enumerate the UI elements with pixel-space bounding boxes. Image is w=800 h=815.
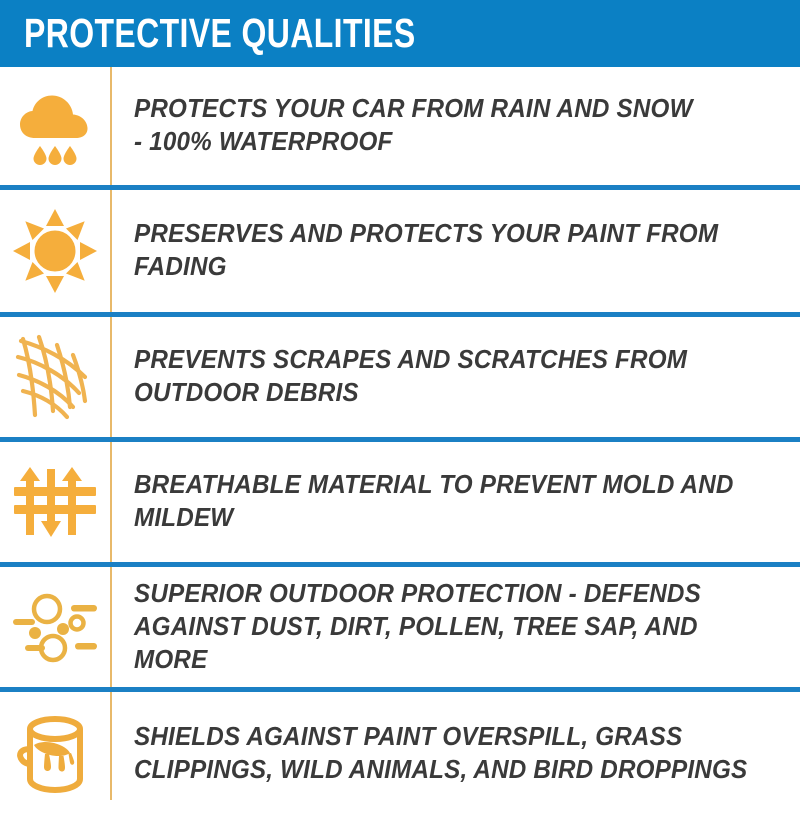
text-cell: PROTECTS YOUR CAR FROM RAIN AND SNOW - 1… <box>110 93 800 159</box>
feature-text-line1: PRESERVES AND PROTECTS YOUR PAINT FROM <box>134 218 753 251</box>
feature-text-line2: AGAINST DUST, DIRT, POLLEN, TREE SAP, AN… <box>134 611 753 677</box>
sun-icon <box>11 207 99 295</box>
feature-text-line2: CLIPPINGS, WILD ANIMALS, AND BIRD DROPPI… <box>134 754 753 787</box>
feature-text-line2: MILDEW <box>134 502 753 535</box>
paint-can-icon <box>14 711 96 797</box>
feature-rows: PROTECTS YOUR CAR FROM RAIN AND SNOW - 1… <box>0 67 800 800</box>
feature-row-breathable: BREATHABLE MATERIAL TO PREVENT MOLD AND … <box>0 442 800 562</box>
rain-cloud-icon <box>13 84 97 168</box>
icon-cell <box>0 442 110 562</box>
protective-qualities-infographic: PROTECTIVE QUALITIES PROTECTS YOUR CAR F… <box>0 0 800 800</box>
feature-row-rain: PROTECTS YOUR CAR FROM RAIN AND SNOW - 1… <box>0 67 800 185</box>
header-banner: PROTECTIVE QUALITIES <box>0 0 800 67</box>
icon-cell <box>0 567 110 687</box>
feature-row-dust: SUPERIOR OUTDOOR PROTECTION - DEFENDS AG… <box>0 567 800 687</box>
feature-text-line2: OUTDOOR DEBRIS <box>134 377 753 410</box>
feature-text-line2: - 100% WATERPROOF <box>134 126 753 159</box>
feature-text-line1: BREATHABLE MATERIAL TO PREVENT MOLD AND <box>134 469 753 502</box>
text-cell: BREATHABLE MATERIAL TO PREVENT MOLD AND … <box>110 469 800 535</box>
row-separator <box>0 185 800 190</box>
icon-cell <box>0 317 110 437</box>
text-cell: SHIELDS AGAINST PAINT OVERSPILL, GRASS C… <box>110 721 800 787</box>
row-separator <box>0 687 800 692</box>
dust-particles-icon <box>9 585 101 669</box>
feature-row-mesh: PREVENTS SCRAPES AND SCRATCHES FROM OUTD… <box>0 317 800 437</box>
page-title: PROTECTIVE QUALITIES <box>24 13 416 54</box>
feature-text-line1: PROTECTS YOUR CAR FROM RAIN AND SNOW <box>134 93 753 126</box>
feature-text-line1: SHIELDS AGAINST PAINT OVERSPILL, GRASS <box>134 721 753 754</box>
icon-cell <box>0 190 110 312</box>
feature-row-paint: SHIELDS AGAINST PAINT OVERSPILL, GRASS C… <box>0 692 800 815</box>
feature-text-line1: SUPERIOR OUTDOOR PROTECTION - DEFENDS <box>134 578 753 611</box>
feature-text-line1: PREVENTS SCRAPES AND SCRATCHES FROM <box>134 344 753 377</box>
feature-text-line2: FADING <box>134 251 753 284</box>
icon-cell <box>0 692 110 815</box>
text-cell: PRESERVES AND PROTECTS YOUR PAINT FROM F… <box>110 218 800 284</box>
text-cell: SUPERIOR OUTDOOR PROTECTION - DEFENDS AG… <box>110 578 800 677</box>
feature-row-sun: PRESERVES AND PROTECTS YOUR PAINT FROM F… <box>0 190 800 312</box>
row-separator <box>0 312 800 317</box>
breathable-airflow-arrows-icon <box>12 459 98 545</box>
icon-cell <box>0 67 110 185</box>
row-separator <box>0 562 800 567</box>
woven-mesh-icon <box>13 331 97 423</box>
text-cell: PREVENTS SCRAPES AND SCRATCHES FROM OUTD… <box>110 344 800 410</box>
row-separator <box>0 437 800 442</box>
